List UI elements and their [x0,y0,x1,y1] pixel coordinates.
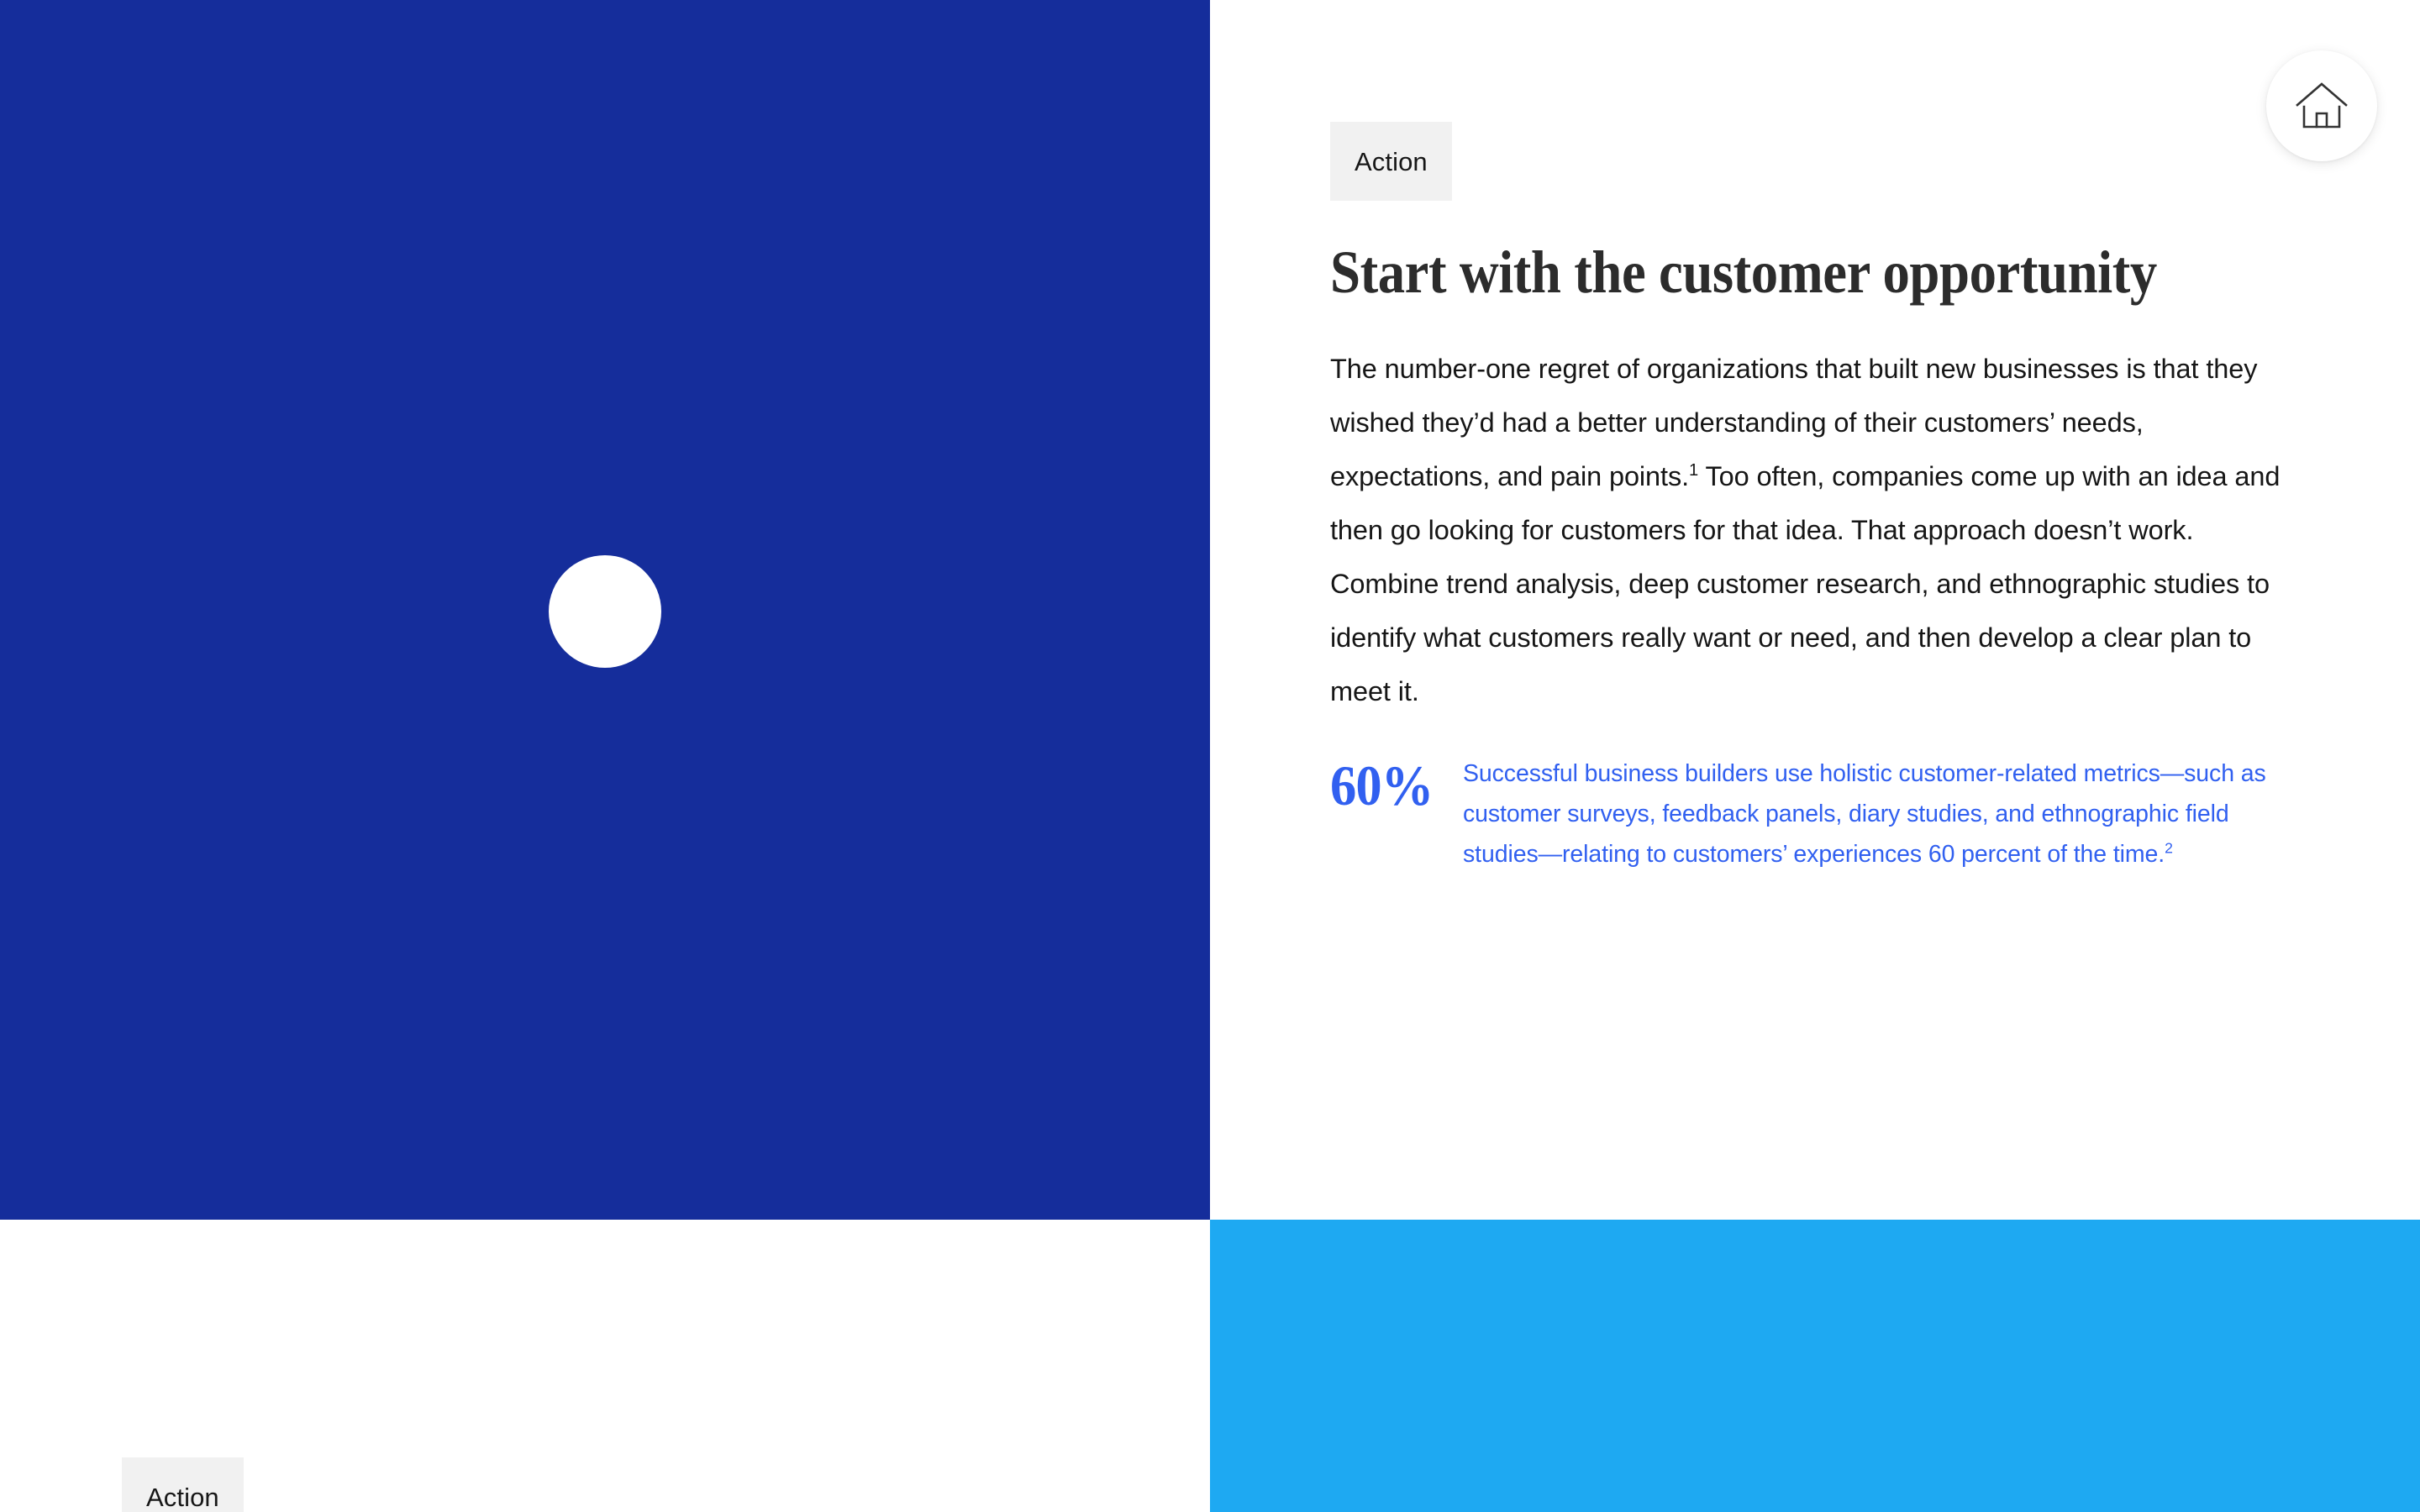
slide-canvas: Action Start with the customer opportuni… [0,0,2420,1512]
body-paragraph: The number-one regret of organizations t… [1330,342,2305,718]
statistic-description: Successful business builders use holisti… [1463,753,2270,874]
eyebrow-badge-action: Action [1330,122,1452,201]
footnote-marker-1: 1 [1689,461,1698,480]
body-text-part-2: Too often, companies come up with an ide… [1330,461,2280,706]
eyebrow-badge-action-bottom: Action [122,1457,244,1512]
media-panel-top-left [0,0,1210,1220]
statistic-block: 60% Successful business builders use hol… [1330,753,2305,874]
card-content: Action Start with the customer opportuni… [1330,122,2305,874]
statistic-figure: 60% [1330,753,1433,814]
footnote-marker-2: 2 [2165,840,2173,857]
statistic-description-text: Successful business builders use holisti… [1463,760,2266,868]
white-circle-graphic [549,555,661,668]
media-panel-bottom-right [1210,1220,2420,1512]
page-title: Start with the customer opportunity [1330,240,2298,305]
